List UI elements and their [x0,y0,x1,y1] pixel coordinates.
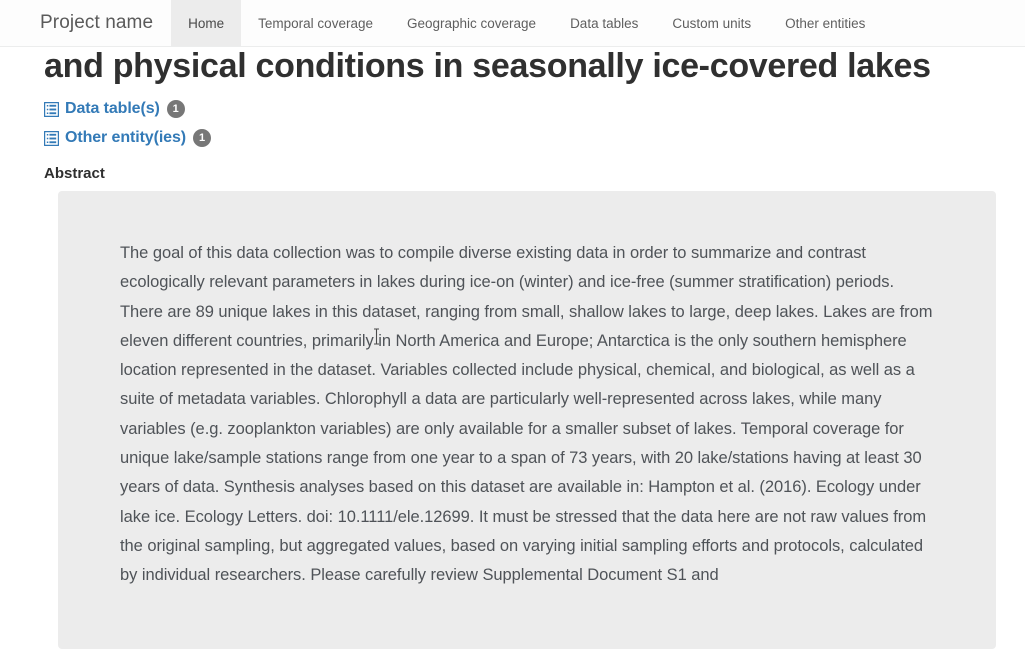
tab-temporal-coverage[interactable]: Temporal coverage [241,0,390,46]
tab-data-tables[interactable]: Data tables [553,0,655,46]
abstract-heading: Abstract [0,154,1025,182]
entity-count-badge: 1 [167,100,185,118]
entity-link-label[interactable]: Other entity(ies) [65,129,186,147]
tab-custom-units[interactable]: Custom units [655,0,768,46]
nav-tab-list: Home Temporal coverage Geographic covera… [171,0,882,46]
table-list-icon [44,131,59,146]
entity-link-label[interactable]: Data table(s) [65,100,160,118]
tab-other-entities[interactable]: Other entities [768,0,882,46]
tab-home[interactable]: Home [171,0,241,46]
page-content: and physical conditions in seasonally ic… [0,45,1025,649]
entity-link-other-entities[interactable]: Other entity(ies) 1 [44,125,1025,151]
page-title: and physical conditions in seasonally ic… [0,45,1025,87]
top-navbar: Project name Home Temporal coverage Geog… [0,0,1025,47]
abstract-text: The goal of this data collection was to … [120,239,936,591]
abstract-panel: The goal of this data collection was to … [58,191,996,649]
brand-project-name[interactable]: Project name [30,0,171,46]
entity-link-data-tables[interactable]: Data table(s) 1 [44,96,1025,122]
table-list-icon [44,102,59,117]
entity-count-badge: 1 [193,129,211,147]
tab-geographic-coverage[interactable]: Geographic coverage [390,0,553,46]
entity-link-list: Data table(s) 1 Other entity(ies) 1 [0,87,1025,151]
